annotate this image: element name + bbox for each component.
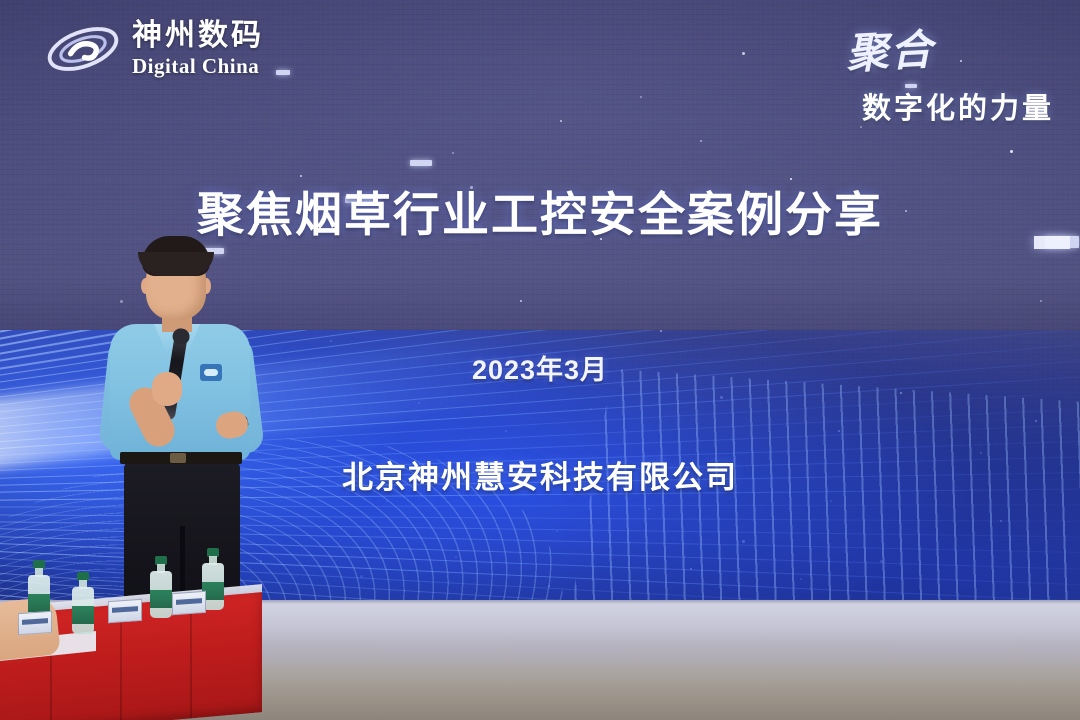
wall-light-bar xyxy=(1034,236,1070,249)
bottle-label xyxy=(72,606,94,624)
slogan-subtitle: 数字化的力量 xyxy=(846,85,1054,127)
bottle-label xyxy=(150,590,172,608)
swirl-galaxy-icon xyxy=(44,18,122,80)
brand-name-cn: 神州数码 xyxy=(132,21,264,51)
speaker-person xyxy=(96,236,286,600)
name-card xyxy=(18,611,52,635)
speaker-hair xyxy=(142,236,210,276)
light-dash xyxy=(410,160,432,166)
speaker-left-hand xyxy=(152,372,182,406)
slogan-calligraphy: 聚合 xyxy=(844,16,935,82)
brand-logo: 神州数码 Digital China xyxy=(44,18,264,80)
water-bottle xyxy=(72,572,94,634)
particle-dot xyxy=(452,152,454,154)
slide-title: 聚焦烟草行业工控安全案例分享 xyxy=(0,176,1080,245)
speaker-belt-buckle xyxy=(170,453,186,463)
brand-wordmark: 神州数码 Digital China xyxy=(132,21,264,77)
name-card-text xyxy=(112,606,138,613)
bottle-label xyxy=(28,594,50,612)
name-card-text xyxy=(22,618,48,625)
particle-dot xyxy=(640,96,642,98)
brand-name-en: Digital China xyxy=(132,56,264,77)
water-bottle xyxy=(150,556,172,618)
speaker-chest-logo xyxy=(200,364,222,381)
conference-stage-photo: 聚焦烟草行业工控安全案例分享 2023年3月 北京神州慧安科技有限公司 神州数码… xyxy=(0,0,1080,720)
name-card xyxy=(108,599,142,623)
event-slogan: 聚合 数字化的力量 xyxy=(846,18,1054,127)
light-dash xyxy=(276,70,290,75)
name-card-text xyxy=(176,598,202,605)
name-card xyxy=(172,591,206,615)
particle-dot xyxy=(1040,300,1042,302)
